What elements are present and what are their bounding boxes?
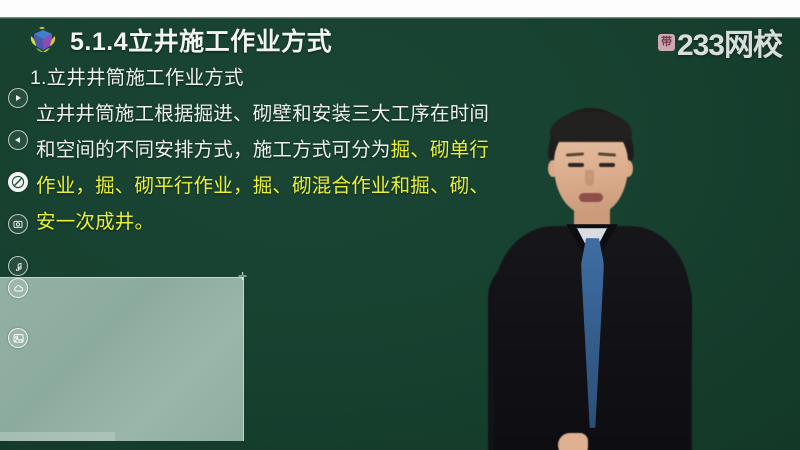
slide-title-row: 5.1.4立井施工作业方式 (28, 22, 332, 58)
presenter-mouth (579, 193, 603, 202)
no-entry-slash-icon[interactable] (8, 172, 28, 192)
overlay-crosshair-icon[interactable]: ✛ (238, 272, 249, 283)
text-line-heading: 1.立井井筒施工作业方式 (30, 60, 520, 96)
page-title: 5.1.4立井施工作业方式 (70, 22, 332, 58)
image-icon[interactable] (8, 328, 28, 348)
presenter-eye-right (599, 163, 615, 167)
presenter-nose (585, 170, 594, 186)
lecturer-video (470, 108, 710, 450)
play-icon[interactable] (8, 88, 28, 108)
music-note-icon[interactable] (8, 256, 28, 276)
presenter-eye-left (568, 163, 584, 167)
text-line-1: 立井井筒施工根据掘进、砌壁和安装三大工序在时间 (36, 96, 520, 132)
top-band-edge (0, 17, 800, 19)
left-tool-rail[interactable] (7, 88, 29, 276)
slide-body-text: 1.立井井筒施工作业方式 立井井筒施工根据掘进、砌壁和安装三大工序在时间 和空间… (30, 60, 520, 240)
cloud-icon[interactable] (8, 278, 28, 298)
text-line-2-plain: 和空间的不同安排方式，施工方式可分为 (36, 139, 391, 161)
watermark-text: 233网校 (677, 20, 782, 64)
text-line-2: 和空间的不同安排方式，施工方式可分为掘、砌单行 (36, 132, 520, 168)
text-line-4: 安一次成井。 (36, 204, 520, 240)
left-tool-rail-lower[interactable] (7, 278, 29, 348)
video-thumbnail-overlay[interactable] (0, 277, 244, 441)
screenshot-icon[interactable] (8, 214, 28, 234)
presenter-hair-front (550, 112, 632, 142)
back-arrow-icon[interactable] (8, 130, 28, 150)
watermark: 带 233网校 (658, 20, 782, 64)
video-player-screenshot: 5.1.4立井施工作业方式 1.立井井筒施工作业方式 立井井筒施工根据掘进、砌壁… (0, 0, 800, 450)
presenter-hand (558, 433, 588, 450)
top-white-band (0, 0, 800, 17)
text-line-3: 作业，掘、砌平行作业，掘、砌混合作业和掘、砌、 (36, 168, 520, 204)
overlay-bottom-strip (0, 432, 115, 441)
colorful-cube-logo-icon (28, 25, 58, 55)
watermark-badge: 带 (658, 34, 675, 51)
